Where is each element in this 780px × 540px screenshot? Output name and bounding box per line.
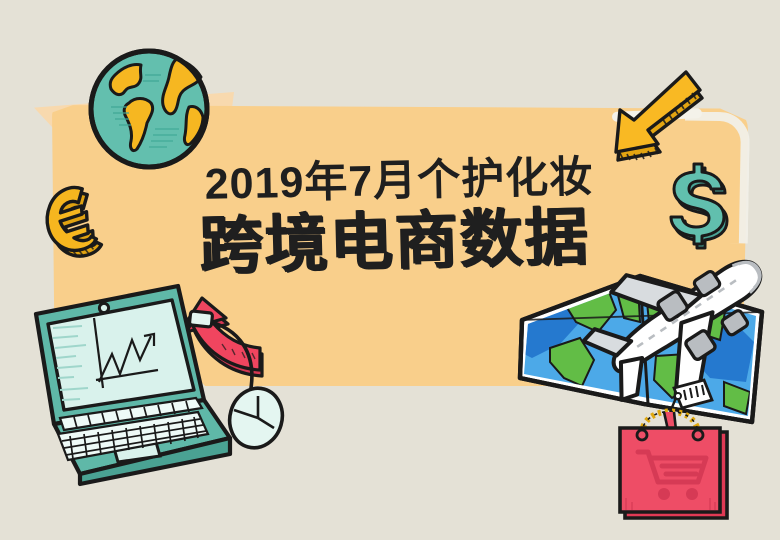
mouse-icon (223, 382, 290, 454)
sale-tag-icon (670, 380, 712, 412)
poster-canvas: 2019年7月个护化妆 跨境电商数据 (0, 0, 780, 540)
dollar-currency-icon (660, 160, 732, 244)
euro-currency-icon (22, 168, 118, 264)
mouse-cable (204, 320, 252, 394)
globe-icon (85, 45, 213, 173)
laptop-chart-icon (8, 278, 288, 488)
shopping-bag-icon (612, 378, 748, 520)
arrow-down-left-icon (602, 58, 712, 170)
